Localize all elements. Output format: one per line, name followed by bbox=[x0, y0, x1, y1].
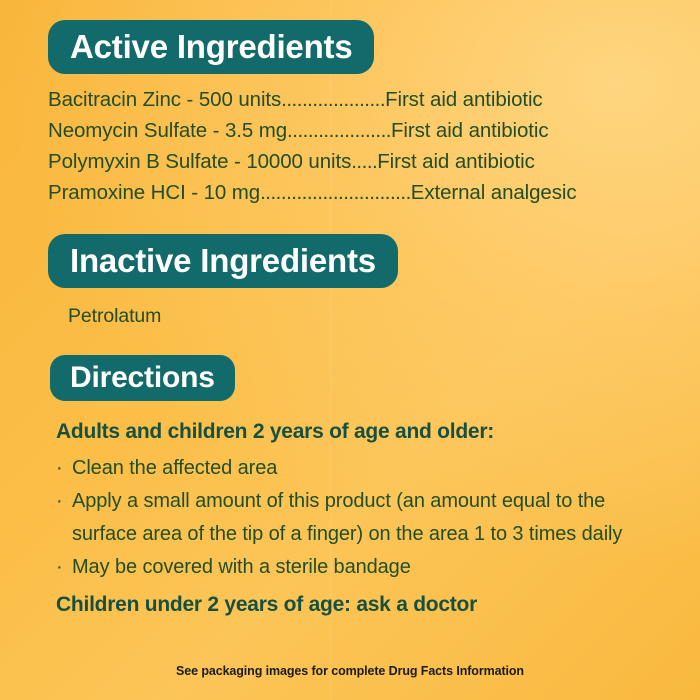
ingredient-name: Polymyxin B Sulfate - 10000 units bbox=[48, 150, 351, 173]
ingredient-purpose: External analgesic bbox=[411, 181, 577, 204]
panel-content: Active Ingredients Bacitracin Zinc - 500… bbox=[0, 0, 700, 700]
ingredient-name: Pramoxine HCI - 10 mg bbox=[48, 181, 260, 204]
directions-heading: Directions bbox=[50, 355, 235, 401]
dot-leader: .................... bbox=[281, 88, 385, 111]
ingredient-purpose: First aid antibiotic bbox=[385, 88, 543, 111]
inactive-ingredients-heading: Inactive Ingredients bbox=[48, 234, 398, 288]
ingredient-purpose: First aid antibiotic bbox=[377, 150, 535, 173]
directions-body: Adults and children 2 years of age and o… bbox=[56, 417, 656, 620]
directions-closing-note: Children under 2 years of age: ask a doc… bbox=[56, 590, 656, 620]
drug-facts-panel: Active Ingredients Bacitracin Zinc - 500… bbox=[0, 0, 700, 700]
inactive-ingredients-list: Petrolatum bbox=[68, 305, 161, 328]
ingredient-purpose: First aid antibiotic bbox=[391, 119, 549, 142]
bullet-icon: · bbox=[56, 485, 63, 518]
directions-bullet: · Apply a small amount of this product (… bbox=[56, 485, 656, 551]
packaging-note: See packaging images for complete Drug F… bbox=[0, 664, 700, 678]
directions-bullet: · Clean the affected area bbox=[56, 452, 656, 485]
bullet-icon: · bbox=[56, 452, 63, 485]
bullet-icon: · bbox=[56, 551, 63, 584]
directions-bullet-text: Clean the affected area bbox=[72, 457, 277, 479]
active-ingredient-row: Neomycin Sulfate - 3.5 mg...............… bbox=[48, 115, 652, 146]
active-ingredient-row: Bacitracin Zinc - 500 units.............… bbox=[48, 84, 652, 115]
active-ingredients-list: Bacitracin Zinc - 500 units.............… bbox=[48, 84, 652, 208]
dot-leader: ............................. bbox=[260, 181, 411, 204]
directions-bullet-text: Apply a small amount of this product (an… bbox=[72, 490, 622, 545]
directions-bullet-text: May be covered with a sterile bandage bbox=[72, 556, 411, 578]
active-ingredient-row: Polymyxin B Sulfate - 10000 units.....Fi… bbox=[48, 146, 652, 177]
active-ingredients-heading: Active Ingredients bbox=[48, 20, 374, 74]
directions-subheading: Adults and children 2 years of age and o… bbox=[56, 417, 656, 447]
dot-leader: ..... bbox=[351, 150, 377, 173]
inactive-ingredient-item: Petrolatum bbox=[68, 305, 161, 328]
directions-bullet: · May be covered with a sterile bandage bbox=[56, 551, 656, 584]
active-ingredient-row: Pramoxine HCI - 10 mg...................… bbox=[48, 177, 652, 208]
ingredient-name: Bacitracin Zinc - 500 units bbox=[48, 88, 281, 111]
ingredient-name: Neomycin Sulfate - 3.5 mg bbox=[48, 119, 287, 142]
dot-leader: .................... bbox=[287, 119, 391, 142]
